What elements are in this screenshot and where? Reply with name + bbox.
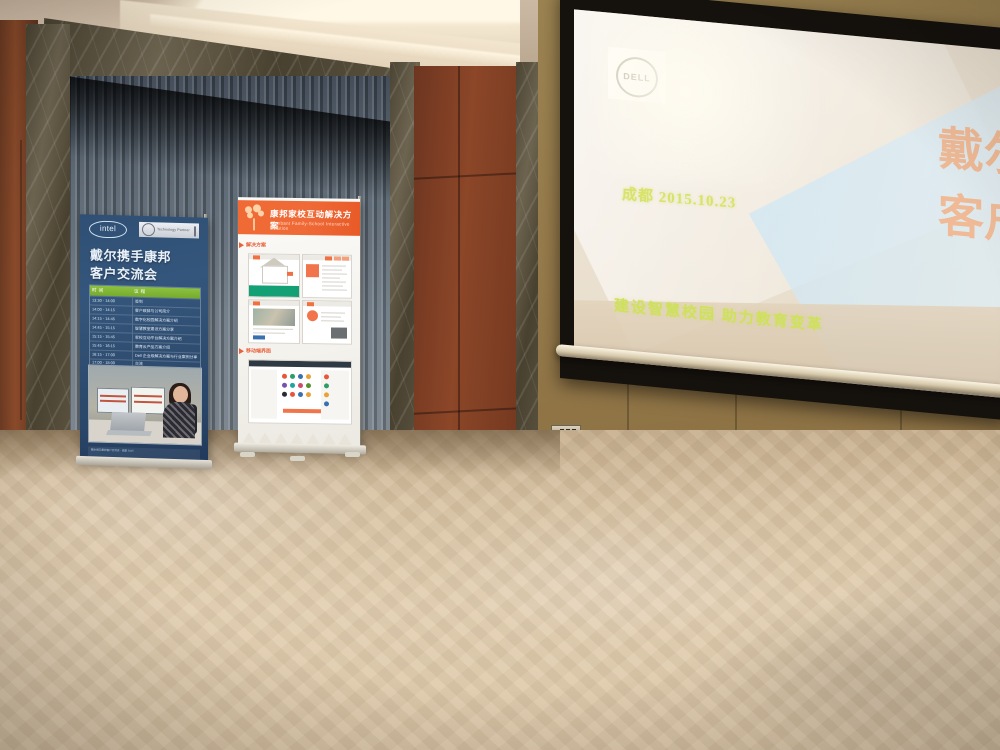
grass-band (249, 285, 299, 297)
agenda-header-topic: 议 程 (132, 287, 148, 298)
accent-block (253, 335, 265, 339)
agenda-time: 16:15 - 17:00 (90, 350, 133, 359)
agenda-time: 14:00 - 14:15 (90, 306, 133, 315)
tree-trunk (253, 218, 255, 230)
accent-block (287, 272, 293, 276)
person-figure (161, 385, 195, 438)
dell-logo-ring (142, 223, 155, 236)
wood-panel-wall (414, 66, 520, 481)
agenda-time: 14:45 - 15:15 (90, 323, 133, 332)
dell-partner-text: Technology Partner (157, 228, 190, 233)
dell-partner-plate: Technology Partner (139, 222, 199, 239)
screenshot-thumbnail (248, 253, 300, 298)
screenshot-tab (342, 256, 349, 260)
screenshot-tab (334, 256, 341, 260)
text-line (321, 316, 341, 318)
agenda-time: 14:15 - 14:45 (90, 315, 133, 324)
screen-glare (594, 9, 824, 193)
agenda-topic: 教育云产品方案介绍 (133, 342, 172, 351)
banner-logo-row: intel Technology Partner (80, 216, 208, 244)
agenda-header-time: 时 间 (90, 285, 132, 297)
wood-seam (20, 140, 22, 420)
screenshot-tab (325, 256, 332, 260)
app-icon (324, 374, 329, 379)
text-line (322, 281, 346, 283)
screenshot-thumbnail (248, 299, 300, 344)
mobile-left-column (251, 369, 277, 418)
conference-room-photo: DELL 戴尔携 客户交 成都 2015.10.23 建设智慧校园 助力教育变革… (0, 0, 1000, 750)
banner-office-photo (88, 364, 202, 445)
text-line (321, 320, 344, 322)
photo-placeholder (331, 327, 347, 338)
agenda-time: 15:45 - 16:15 (90, 341, 133, 350)
app-icon (282, 392, 287, 397)
agenda-topic: 家校互动平台解决方案介绍 (133, 334, 184, 343)
app-icon (324, 383, 329, 388)
app-icon (282, 383, 287, 388)
banner-combant-header: 康邦家校互动解决方案 Combant Family-School Interac… (238, 200, 360, 236)
text-line (253, 332, 285, 334)
app-icon (298, 383, 303, 388)
screenshot-tab (253, 301, 260, 305)
agenda-topic: 智慧教室建设方案分享 (133, 325, 176, 334)
text-line (321, 312, 345, 314)
agenda-topic: 签到 (133, 298, 145, 306)
slide-main-title: 戴尔携 客户交 (938, 116, 1000, 262)
agenda-time: 15:15 - 15:45 (90, 332, 133, 341)
text-line (253, 328, 293, 330)
tree-icon (243, 204, 265, 230)
app-icon (290, 374, 295, 379)
accent-circle (307, 310, 318, 321)
marble-pillar-left (26, 24, 70, 484)
app-icon (324, 392, 329, 397)
agenda-topic: 数字化校园解决方案介绍 (133, 316, 180, 325)
screenshot-tab (253, 255, 260, 259)
head-shape (173, 386, 188, 403)
banner-section-label-1: 解决方案 (246, 241, 266, 248)
body-shape (163, 402, 195, 439)
screenshot-tab (307, 302, 314, 306)
agenda-topic: 客户致辞与公司简介 (133, 307, 172, 316)
house-shape (262, 265, 288, 283)
banner-section-label-2: 移动端界面 (246, 347, 271, 354)
banner-dell-title-line-2: 客户交流会 (90, 264, 200, 285)
banner-foot (345, 452, 360, 457)
banner-foot (290, 456, 305, 461)
banner-dell-intel[interactable]: intel Technology Partner 戴尔携手康邦 客户交流会 时 … (80, 214, 208, 464)
agenda-time: 13:30 - 14:00 (90, 297, 133, 306)
app-icon (324, 401, 329, 406)
app-icon (282, 374, 287, 379)
text-line (322, 269, 342, 271)
monitor-icon (131, 387, 165, 415)
text-line (322, 265, 346, 267)
banner-agenda-table: 时 间 议 程 13:30 - 14:00 签到 14:00 - 14:15 客… (89, 284, 201, 371)
mobile-center-column (279, 370, 319, 420)
screenshot-thumbnail (302, 254, 352, 299)
wood-panel-seam (458, 66, 460, 481)
banner-dell-title: 戴尔携手康邦 客户交流会 (90, 246, 200, 284)
banner-combant-title-en: Combant Family-School Interactive Soluti… (270, 221, 360, 232)
intel-logo: intel (89, 220, 127, 238)
accent-block (306, 264, 319, 277)
banner-foot (240, 452, 255, 457)
mobile-right-column (321, 370, 349, 419)
app-icon (306, 392, 311, 397)
app-icon (298, 374, 303, 379)
text-line (322, 277, 340, 279)
mobile-statusbar (249, 360, 351, 367)
text-line (322, 273, 347, 275)
app-icon (298, 392, 303, 397)
photo-placeholder (253, 308, 295, 326)
intel-logo-text: intel (90, 223, 126, 233)
monitor-icon (97, 388, 129, 414)
carpet-floor (0, 430, 1000, 750)
banner-combant[interactable]: 康邦家校互动解决方案 Combant Family-School Interac… (238, 197, 360, 449)
app-icon (306, 383, 311, 388)
projection-screen[interactable]: DELL 戴尔携 客户交 成都 2015.10.23 建设智慧校园 助力教育变革 (574, 9, 1000, 398)
text-line (322, 289, 347, 291)
dell-plate-bar (194, 226, 196, 236)
screenshot-thumbnail (302, 300, 352, 345)
app-icon (290, 392, 295, 397)
text-line (322, 285, 343, 287)
app-icon (306, 374, 311, 379)
app-icon (290, 383, 295, 388)
